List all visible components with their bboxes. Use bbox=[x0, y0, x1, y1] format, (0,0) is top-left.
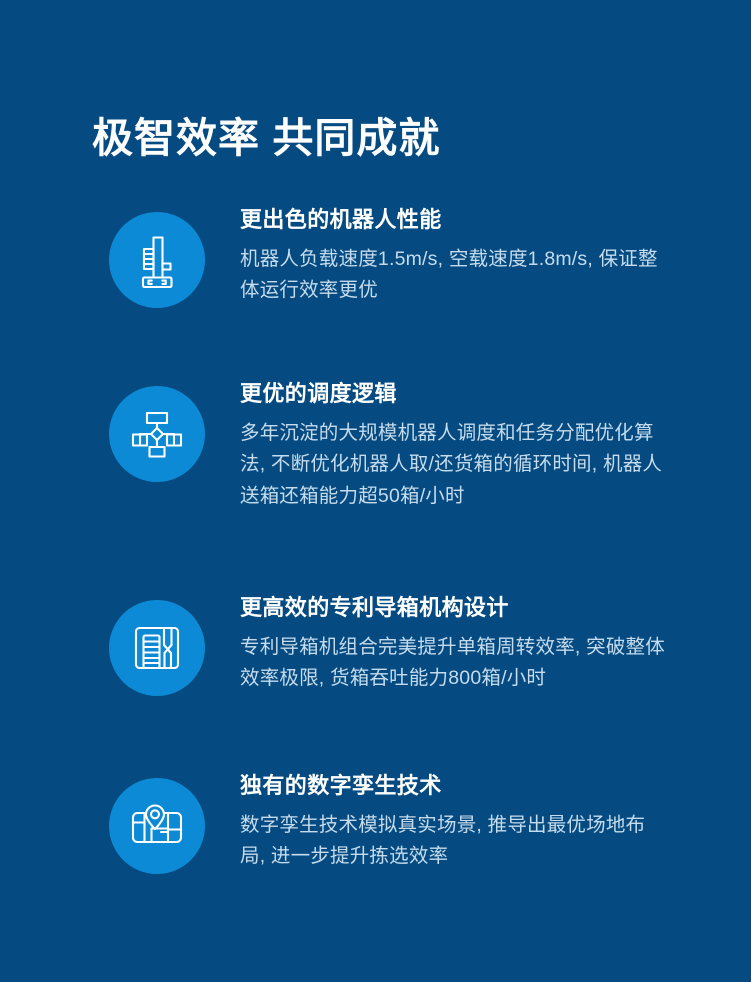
feature-title: 独有的数字孪生技术 bbox=[240, 772, 751, 801]
feature-item-robot-performance: 更出色的机器人性能 机器人负载速度1.5m/s, 空载速度1.8m/s, 保证整… bbox=[0, 196, 751, 370]
rack-guide-mechanism-icon bbox=[109, 600, 205, 696]
feature-list: 更出色的机器人性能 机器人负载速度1.5m/s, 空载速度1.8m/s, 保证整… bbox=[0, 196, 751, 922]
feature-description: 专利导箱机组合完美提升单箱周转效率, 突破整体效率极限, 货箱吞吐能力800箱/… bbox=[240, 632, 665, 695]
feature-title: 更出色的机器人性能 bbox=[240, 206, 751, 235]
feature-text-block: 更优的调度逻辑 多年沉淀的大规模机器人调度和任务分配优化算法, 不断优化机器人取… bbox=[205, 370, 751, 512]
feature-description: 多年沉淀的大规模机器人调度和任务分配优化算法, 不断优化机器人取/还货箱的循环时… bbox=[240, 418, 665, 513]
feature-text-block: 独有的数字孪生技术 数字孪生技术模拟真实场景, 推导出最优场地布局, 进一步提升… bbox=[205, 762, 751, 873]
robot-mast-icon bbox=[109, 212, 205, 308]
feature-text-block: 更出色的机器人性能 机器人负载速度1.5m/s, 空载速度1.8m/s, 保证整… bbox=[205, 196, 751, 307]
feature-description: 机器人负载速度1.5m/s, 空载速度1.8m/s, 保证整体运行效率更优 bbox=[240, 244, 665, 307]
feature-item-scheduling-logic: 更优的调度逻辑 多年沉淀的大规模机器人调度和任务分配优化算法, 不断优化机器人取… bbox=[0, 370, 751, 584]
map-pin-icon bbox=[109, 778, 205, 874]
feature-item-guide-mechanism: 更高效的专利导箱机构设计 专利导箱机组合完美提升单箱周转效率, 突破整体效率极限… bbox=[0, 584, 751, 762]
feature-title: 更高效的专利导箱机构设计 bbox=[240, 594, 751, 623]
promo-page: 极智效率 共同成就 更出色的机器人性能 机器人负载速度1.5m bbox=[0, 0, 751, 982]
feature-item-digital-twin: 独有的数字孪生技术 数字孪生技术模拟真实场景, 推导出最优场地布局, 进一步提升… bbox=[0, 762, 751, 922]
flowchart-scheduling-icon bbox=[109, 386, 205, 482]
page-title: 极智效率 共同成就 bbox=[92, 113, 440, 164]
feature-title: 更优的调度逻辑 bbox=[240, 380, 751, 409]
feature-text-block: 更高效的专利导箱机构设计 专利导箱机组合完美提升单箱周转效率, 突破整体效率极限… bbox=[205, 584, 751, 695]
feature-description: 数字孪生技术模拟真实场景, 推导出最优场地布局, 进一步提升拣选效率 bbox=[240, 810, 665, 873]
